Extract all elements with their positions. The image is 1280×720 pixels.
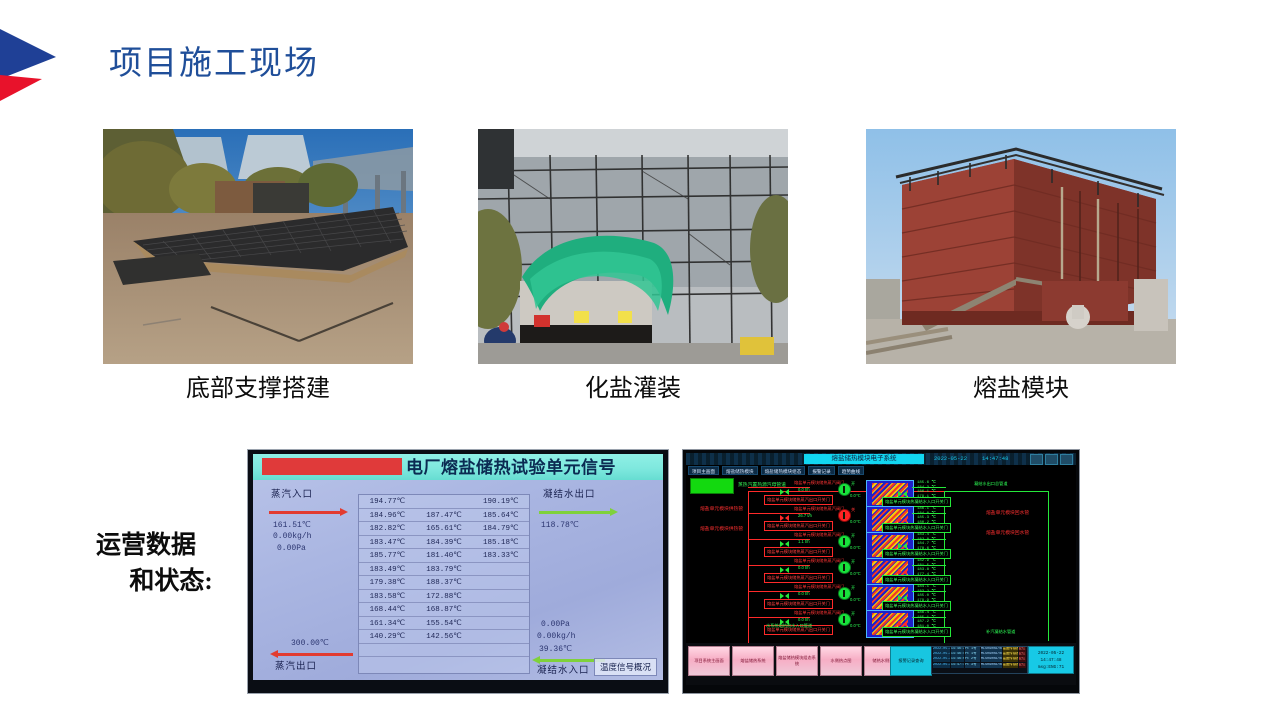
- module-flow-5: 0.0 t/h: [798, 617, 810, 622]
- scada-bottom-bar: 项目系统主画面熔盐储热系统熔盐储热模块组态系统水侧热点图储热水侧系统 报警记录查…: [686, 643, 1076, 685]
- module-outlet-branch: [912, 591, 946, 592]
- menu-item-2[interactable]: 熔盐储热模块组态: [761, 466, 806, 475]
- temperature-cell: 172.88℃: [416, 591, 473, 601]
- photo-row: [0, 129, 1280, 369]
- temperature-cell: 183.79℃: [416, 564, 473, 574]
- module-valve-state-3: 开: [851, 559, 855, 565]
- temperature-cell: 179.38℃: [359, 577, 416, 587]
- photo-1-frame: [103, 129, 413, 364]
- alarm-record-tab[interactable]: 报警记录查询: [890, 646, 932, 676]
- alarm-log-cell: 温度传感器故障: [1003, 663, 1018, 668]
- temperature-cell: 161.34℃: [359, 618, 416, 628]
- temperature-row: 182.82℃165.61℃184.79℃: [359, 522, 529, 536]
- module-valve-state-4: 开: [851, 585, 855, 591]
- temperature-cell: 183.58℃: [359, 591, 416, 601]
- scada-title: 熔盐储热模块电子系统: [804, 454, 924, 464]
- temperature-row: 179.38℃188.37℃: [359, 576, 529, 590]
- photo-salt-filling: [478, 129, 788, 364]
- hmi-panel: 电厂熔盐储热试验单元信号 蒸汽入口 161.51℃ 0.00kg/h 0.00P…: [253, 454, 663, 680]
- condensate-inlet-temp: 39.36℃: [539, 644, 572, 654]
- module-valve-tag-3: 熔盐单元模块储热蒸汽阀门: [794, 558, 844, 564]
- alarm-log-cell: Pt 3号: [965, 663, 980, 668]
- temperature-cell: 190.19℃: [472, 496, 529, 506]
- temperature-row: 168.44℃168.87℃: [359, 603, 529, 617]
- module-inlet-tag-3[interactable]: 熔盐单元模块储热蒸汽出口开关门: [764, 573, 833, 583]
- hmi-title: 电厂熔盐储热试验单元信号: [406, 456, 616, 479]
- temperature-cell: 184.96℃: [359, 510, 416, 520]
- module-outlet-valve-icon-1[interactable]: [898, 517, 907, 524]
- module-inlet-valve-icon-1[interactable]: [780, 515, 789, 522]
- menu-item-0[interactable]: 项目主画面: [688, 466, 719, 475]
- temperature-cell: 168.44℃: [359, 604, 416, 614]
- scada-clock: 2022-05-22 14:47:48 msg:ENG:71: [1028, 646, 1074, 674]
- temperature-row: 161.34℃155.54℃: [359, 617, 529, 631]
- temperature-cell: 188.37℃: [416, 577, 473, 587]
- menu-item-1[interactable]: 熔盐储热模块: [722, 466, 758, 475]
- temperature-cell: 184.39℃: [416, 537, 473, 547]
- condensate-inlet-label: 凝结水入口: [537, 662, 590, 676]
- temperature-cell: 183.47℃: [359, 537, 416, 547]
- temperature-row: 194.77℃190.19℃: [359, 495, 529, 509]
- module-valve-state-0: 开: [851, 481, 855, 487]
- alarm-log-cell: MLS0900A/08B: [981, 663, 1002, 668]
- module-valve-temp-1: 0.0℃: [850, 519, 861, 524]
- alarm-log-table[interactable]: 2022-05-2214:46:31Pt 1号MLS0900A/08B温度传感器…: [931, 646, 1028, 674]
- temperature-cell: 182.82℃: [359, 523, 416, 533]
- operation-data-label: 运营数据 和状态:: [96, 528, 246, 600]
- temperature-cell: 187.47℃: [416, 510, 473, 520]
- steam-outlet-label: 蒸汽出口: [275, 658, 317, 672]
- module-valve-temp-3: 0.0℃: [850, 571, 861, 576]
- photo-bottom-support: [103, 129, 413, 364]
- temperature-cell: 184.79℃: [472, 523, 529, 533]
- steam-outlet-arrow-icon: [277, 652, 353, 656]
- temperature-cell: 194.77℃: [359, 496, 416, 506]
- temperature-table: 194.77℃190.19℃184.96℃187.47℃185.64℃182.8…: [358, 494, 530, 674]
- temperature-row: [359, 644, 529, 658]
- page-title: 项目施工现场: [109, 42, 319, 86]
- scada-screenshot: 熔盐储热模块电子系统 2022-05-22 14:47:48 项目主画面熔盐储热…: [683, 450, 1079, 693]
- clock-date: 2022-05-22: [1038, 650, 1064, 657]
- photo-2-frame: [478, 129, 788, 364]
- caption-bottom-support: 底部支撑搭建: [103, 372, 413, 406]
- steam-inlet-arrow-icon: [269, 510, 341, 514]
- condensate-inlet-pressure: 0.00Pa: [541, 620, 570, 629]
- condensate-outlet-label: 凝结水出口: [543, 486, 596, 500]
- module-valve-tag-2: 熔盐单元模块储热蒸汽阀门: [794, 532, 844, 538]
- caption-row: 底部支撑搭建 化盐灌装 熔盐模块: [0, 372, 1280, 406]
- module-outlet-branch: [912, 487, 946, 488]
- scada-menu-bar[interactable]: 项目主画面熔盐储热模块熔盐储热模块组态报警记录趋势曲线: [688, 466, 864, 475]
- clock-time: 14:47:48: [1040, 657, 1061, 664]
- temperature-row: 183.47℃184.39℃185.18℃: [359, 536, 529, 550]
- module-valve-state-1: 关: [851, 507, 855, 513]
- module-flow-2: 1.1 t/h: [798, 539, 810, 544]
- logo-red-triangle: [0, 75, 42, 101]
- alarm-log-cell: 2022-05-22: [933, 663, 950, 668]
- scada-header-time: 14:47:48: [982, 454, 1008, 464]
- module-inlet-tag-1[interactable]: 熔盐单元模块储热蒸汽出口开关门: [764, 521, 833, 531]
- module-outlet-tag-5[interactable]: 熔盐单元模块热凝结水入口开关门: [882, 627, 951, 637]
- scada-panel: 熔盐储热模块电子系统 2022-05-22 14:47:48 项目主画面熔盐储热…: [686, 453, 1076, 685]
- close-icon[interactable]: [1060, 454, 1073, 465]
- module-inlet-tag-4[interactable]: 熔盐单元模块储热蒸汽出口开关门: [764, 599, 833, 609]
- bottom-label-left: 水系统熔热给水入口管道: [766, 623, 812, 629]
- module-outlet-valve-icon-0[interactable]: [898, 491, 907, 498]
- module-flow-1: 26.7 t/h: [798, 513, 812, 518]
- temperature-cell: 165.61℃: [416, 523, 473, 533]
- module-flow-0: 0.0 t/h: [798, 487, 810, 492]
- module-valve-temp-2: 0.0℃: [850, 545, 861, 550]
- logo-blue-triangle: [0, 29, 56, 79]
- temperature-row: 140.29℃142.56℃: [359, 630, 529, 644]
- nav-button-1[interactable]: 熔盐储热系统: [732, 646, 774, 676]
- steam-inlet-temp: 161.51℃: [273, 520, 311, 530]
- module-inlet-tag-0[interactable]: 熔盐单元模块储热蒸汽出口开关门: [764, 495, 833, 505]
- hmi-titlebar: 电厂熔盐储热试验单元信号: [253, 454, 663, 480]
- module-outlet-branch: [912, 565, 946, 566]
- steam-inlet-label: 蒸汽入口: [271, 486, 313, 500]
- scada-titlebar: 熔盐储热模块电子系统 2022-05-22 14:47:48: [686, 453, 1076, 465]
- temperature-cell: 142.56℃: [416, 631, 473, 641]
- temperature-cell: 155.54℃: [416, 618, 473, 628]
- module-outlet-branch: [912, 513, 946, 514]
- module-outlet-valve-icon-3[interactable]: [898, 569, 907, 576]
- module-valve-temp-0: 0.0℃: [850, 493, 861, 498]
- temperature-cell: 181.40℃: [416, 550, 473, 560]
- nav-button-0[interactable]: 项目系统主画面: [688, 646, 730, 676]
- module-valve-tag-1: 熔盐单元模块储热蒸汽阀门: [794, 506, 844, 512]
- bottom-label-right: 补汽凝结水管道: [986, 629, 1015, 635]
- module-outlet-branch: [912, 617, 946, 618]
- temperature-row: 185.77℃181.40℃183.33℃: [359, 549, 529, 563]
- module-outlet-valve-icon-4[interactable]: [898, 595, 907, 602]
- temperature-overview-button[interactable]: 温度信号概况: [594, 658, 657, 676]
- maximize-icon[interactable]: [1045, 454, 1058, 465]
- steam-outlet-temp: 300.00℃: [291, 638, 329, 648]
- module-outlet-valve-icon-2[interactable]: [898, 543, 907, 550]
- module-valve-temp-5: 0.0℃: [850, 623, 861, 628]
- condensate-outlet-temp: 118.78℃: [541, 520, 579, 530]
- temperature-cell: 168.87℃: [416, 604, 473, 614]
- temperature-cell: 140.29℃: [359, 631, 416, 641]
- clock-msg: msg:ENG:71: [1038, 664, 1064, 671]
- module-valve-tag-0: 熔盐单元模块储热蒸汽阀门: [794, 480, 844, 486]
- module-inlet-valve-icon-4[interactable]: [780, 593, 789, 600]
- nav-button-2[interactable]: 熔盐储热模块组态系统: [776, 646, 818, 676]
- ops-label-line1: 运营数据: [96, 528, 246, 564]
- condensate-inlet-flow: 0.00kg/h: [537, 632, 575, 641]
- photo-molten-salt-module: [866, 129, 1176, 364]
- menu-item-4[interactable]: 趋势曲线: [838, 466, 864, 475]
- module-valve-temp-4: 0.0℃: [850, 597, 861, 602]
- caption-molten-salt-module: 熔盐模块: [866, 372, 1176, 406]
- temperature-row: 184.96℃187.47℃185.64℃: [359, 509, 529, 523]
- alarm-log-cell: 14:47:10: [951, 663, 964, 668]
- redacted-company-name: [262, 458, 402, 475]
- steam-inlet-pressure: 0.00Pa: [277, 544, 306, 553]
- menu-item-3[interactable]: 报警记录: [808, 466, 834, 475]
- steam-inlet-flow: 0.00kg/h: [273, 532, 311, 541]
- ops-label-line2: 和状态:: [96, 564, 246, 600]
- temperature-row: 183.49℃183.79℃: [359, 563, 529, 577]
- condensate-outlet-arrow-icon: [539, 510, 611, 514]
- module-inlet-valve-icon-0[interactable]: [780, 489, 789, 496]
- module-valve-state-5: 开: [851, 611, 855, 617]
- temperature-cell: 185.64℃: [472, 510, 529, 520]
- temperature-cell: 185.77℃: [359, 550, 416, 560]
- module-inlet-valve-icon-2[interactable]: [780, 541, 789, 548]
- temperature-cell: 183.33℃: [472, 550, 529, 560]
- module-inlet-tag-2[interactable]: 熔盐单元模块储热蒸汽出口开关门: [764, 547, 833, 557]
- temperature-cell: 183.49℃: [359, 564, 416, 574]
- module-inlet-valve-icon-3[interactable]: [780, 567, 789, 574]
- module-flow-3: 0.0 t/h: [798, 565, 810, 570]
- module-valve-state-2: 开: [851, 533, 855, 539]
- scada-nav-buttons[interactable]: 项目系统主画面熔盐储热系统熔盐储热模块组态系统水侧热点图储热水侧系统: [688, 646, 906, 676]
- hmi-body: 蒸汽入口 161.51℃ 0.00kg/h 0.00Pa 凝结水出口 118.7…: [253, 480, 663, 680]
- slide-root: 项目施工现场: [0, 0, 1280, 720]
- brand-arrow-logo: [0, 27, 62, 109]
- module-row-5: 熔盐单元模块储热蒸汽阀门0.0 t/h开0.0℃熔盐单元模块储热蒸汽出口开关门1…: [686, 609, 1076, 639]
- module-valve-tag-5: 熔盐单元模块储热蒸汽阀门: [794, 610, 844, 616]
- minimize-icon[interactable]: [1030, 454, 1043, 465]
- window-controls[interactable]: [1030, 454, 1073, 465]
- hmi-screenshot: 电厂熔盐储热试验单元信号 蒸汽入口 161.51℃ 0.00kg/h 0.00P…: [248, 450, 668, 693]
- temperature-cell: 185.18℃: [472, 537, 529, 547]
- temperature-row: 183.58℃172.88℃: [359, 590, 529, 604]
- alarm-log-row[interactable]: 2022-05-2214:47:10Pt 3号MLS0900A/08B温度传感器…: [932, 663, 1027, 668]
- photo-3-frame: [866, 129, 1176, 364]
- module-flow-4: 0.0 t/h: [798, 591, 810, 596]
- scada-header-date: 2022-05-22: [934, 454, 967, 464]
- nav-button-3[interactable]: 水侧热点图: [820, 646, 862, 676]
- module-outlet-valve-icon-5[interactable]: [898, 621, 907, 628]
- module-outlet-branch: [912, 539, 946, 540]
- alarm-log-cell: 复位: [1019, 663, 1026, 668]
- module-valve-tag-4: 熔盐单元模块储热蒸汽阀门: [794, 584, 844, 590]
- caption-salt-filling: 化盐灌装: [478, 372, 788, 406]
